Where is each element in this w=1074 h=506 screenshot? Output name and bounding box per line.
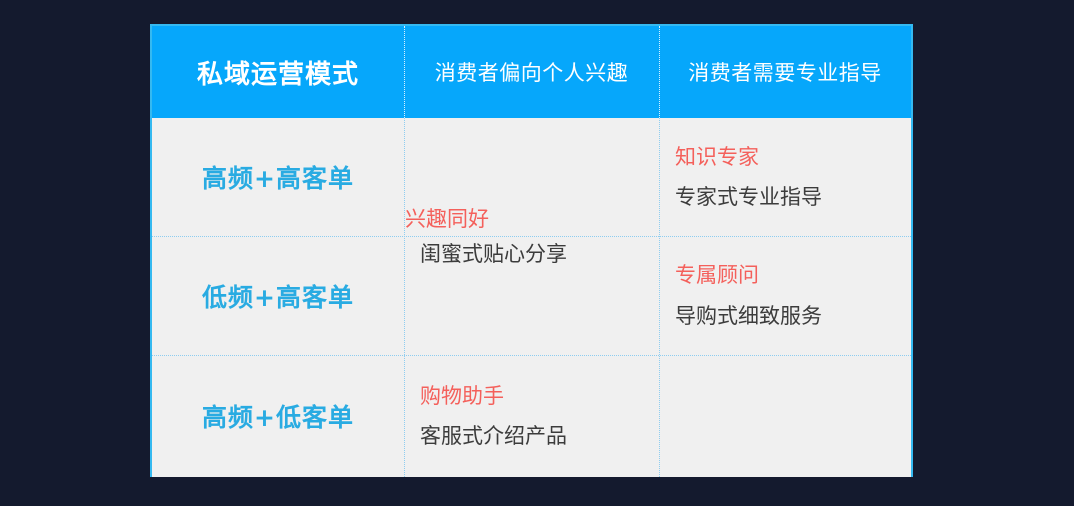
table-header-cell-personal-interest: 消费者偏向个人兴趣 — [404, 26, 659, 118]
cell-title: 购物助手 — [420, 382, 659, 410]
cell-description: 客服式介绍产品 — [420, 422, 659, 450]
table-header-cell-mode: 私域运营模式 — [152, 26, 404, 118]
cell-guidance-row2: 专属顾问 导购式细致服务 — [659, 236, 911, 355]
row-label-high-freq-low-value: 高频+低客单 — [152, 355, 404, 477]
header-divider-1 — [404, 26, 405, 118]
cell-interest-row2: 闺蜜式贴心分享 — [404, 236, 659, 355]
cell-title-interest-spanning: 兴趣同好 — [405, 205, 489, 233]
row-label-high-freq-high-value: 高频+高客单 — [152, 118, 404, 236]
table-header-row: 私域运营模式 消费者偏向个人兴趣 消费者需要专业指导 — [152, 26, 911, 118]
cell-description: 导购式细致服务 — [675, 302, 911, 330]
table-row: 低频+高客单 闺蜜式贴心分享 专属顾问 导购式细致服务 — [152, 236, 911, 355]
table-row: 高频+高客单 知识专家 专家式专业指导 — [152, 118, 911, 236]
table-row: 高频+低客单 购物助手 客服式介绍产品 — [152, 355, 911, 477]
cell-title: 专属顾问 — [675, 261, 911, 289]
table-body: 高频+高客单 知识专家 专家式专业指导 低频+高客单 闺蜜式贴心分享 专属顾问 … — [152, 118, 911, 477]
private-domain-operation-matrix-table: 私域运营模式 消费者偏向个人兴趣 消费者需要专业指导 高频+高客单 知识专家 专… — [150, 24, 913, 477]
cell-description: 闺蜜式贴心分享 — [420, 240, 659, 268]
cell-guidance-row1: 知识专家 专家式专业指导 — [659, 118, 911, 236]
row-label-low-freq-high-value: 低频+高客单 — [152, 236, 404, 355]
header-divider-2 — [659, 26, 660, 118]
cell-title: 知识专家 — [675, 143, 911, 171]
cell-placeholder — [675, 416, 911, 417]
cell-interest-row3: 购物助手 客服式介绍产品 — [404, 355, 659, 477]
cell-guidance-row3 — [659, 355, 911, 477]
table-header-cell-professional-guidance: 消费者需要专业指导 — [659, 26, 911, 118]
cell-description: 专家式专业指导 — [675, 183, 911, 211]
